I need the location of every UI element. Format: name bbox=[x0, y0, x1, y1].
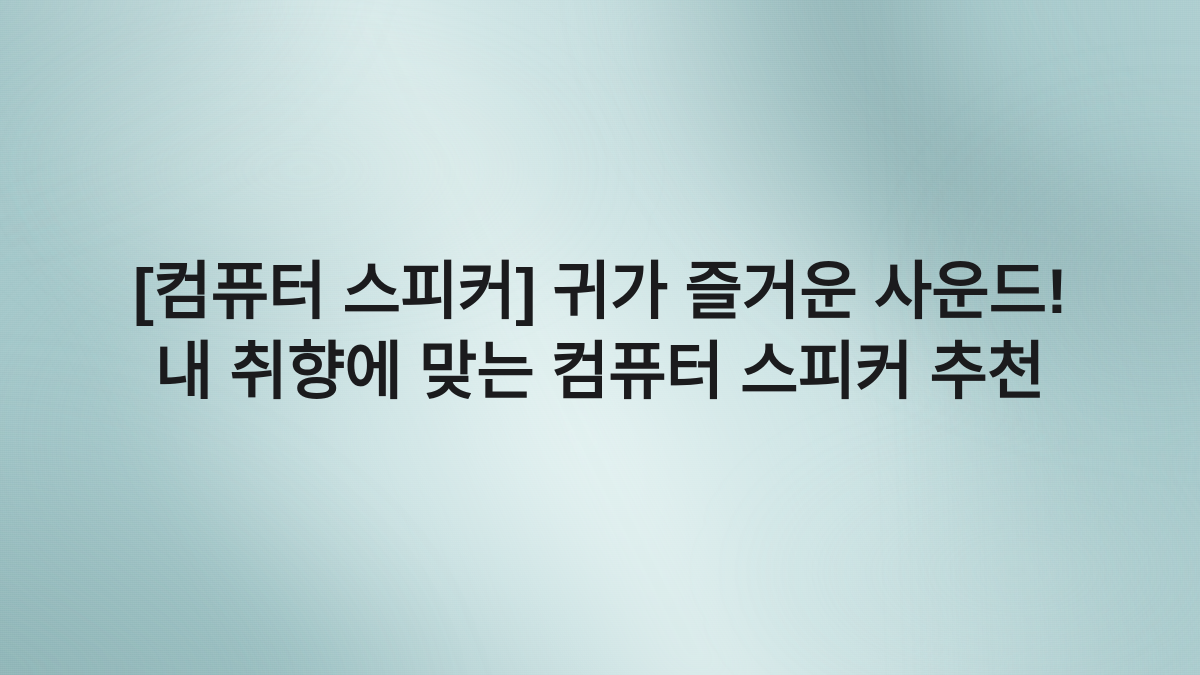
thumbnail-canvas: [컴퓨터 스피커] 귀가 즐거운 사운드! 내 취향에 맞는 컴퓨터 스피커 추… bbox=[0, 0, 1200, 675]
headline-line-1: [컴퓨터 스피커] 귀가 즐거운 사운드! bbox=[40, 252, 1160, 332]
headline-line-2: 내 취향에 맞는 컴퓨터 스피커 추천 bbox=[40, 332, 1160, 412]
headline-block: [컴퓨터 스피커] 귀가 즐거운 사운드! 내 취향에 맞는 컴퓨터 스피커 추… bbox=[0, 252, 1200, 412]
